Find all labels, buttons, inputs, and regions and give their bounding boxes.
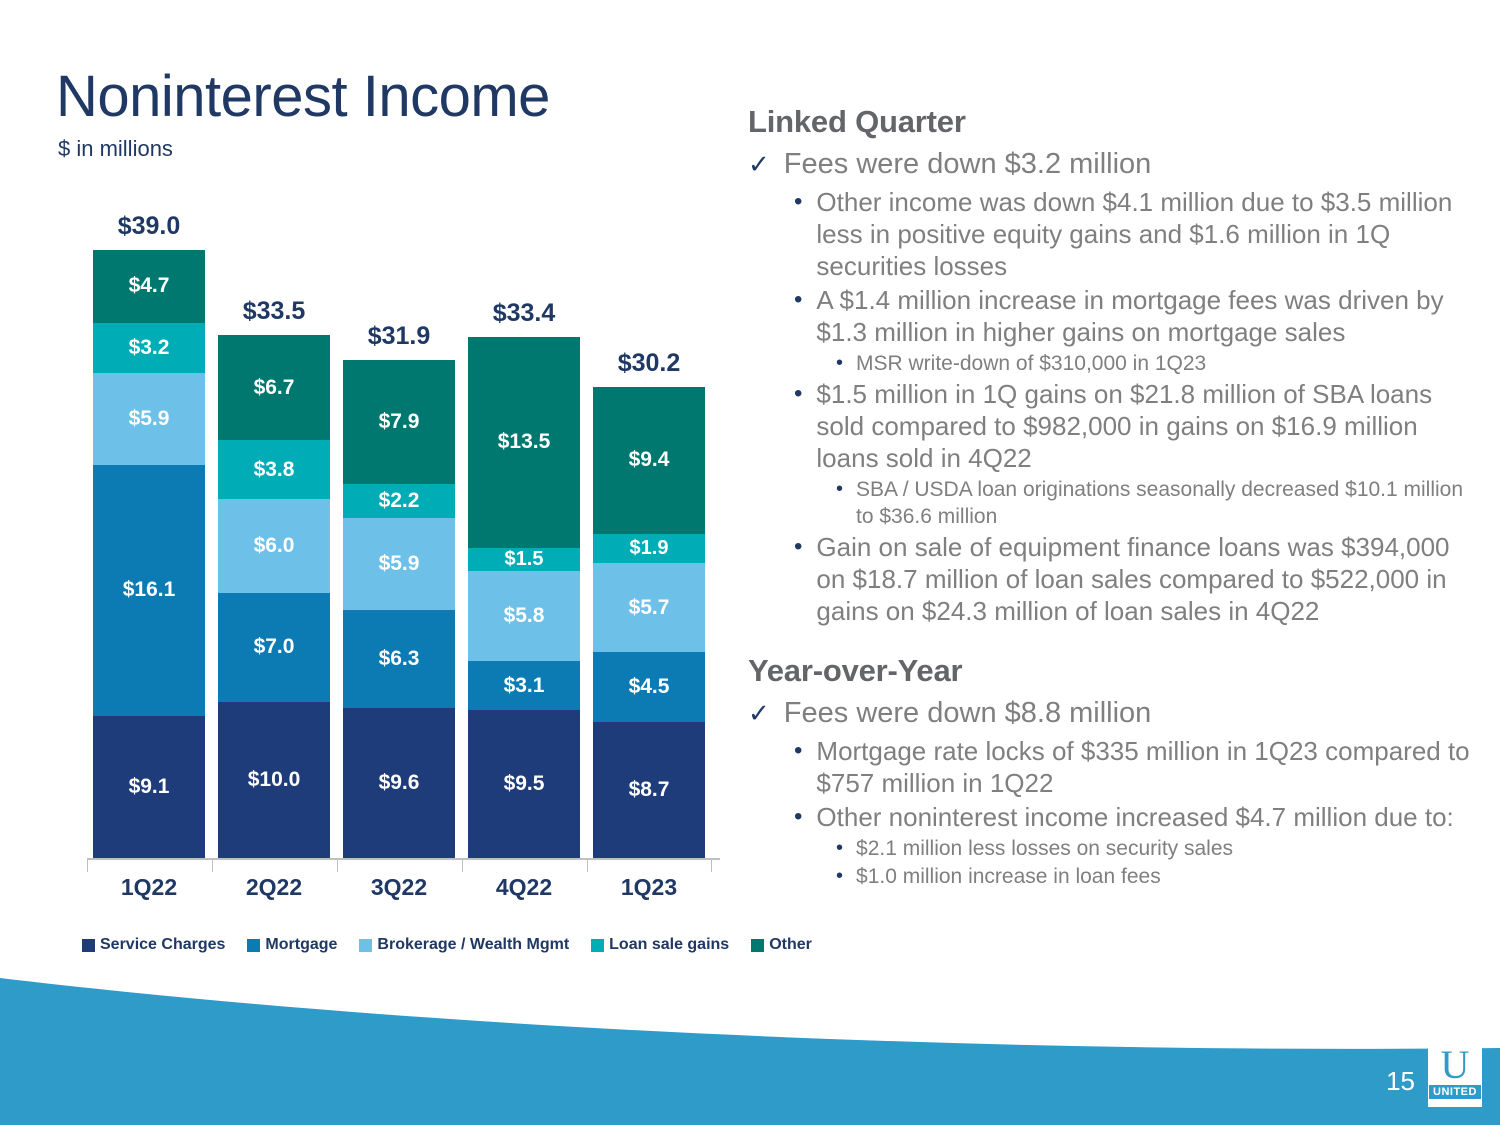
bullet-dot-icon: • [794, 735, 802, 767]
bullet-text: Fees were down $3.2 million [784, 144, 1152, 184]
axis-tick [87, 858, 88, 872]
bar-segment: $7.0 [218, 593, 330, 702]
bullet-level-2: •Gain on sale of equipment finance loans… [794, 531, 1478, 627]
bullet-text: $2.1 million less losses on security sal… [856, 835, 1233, 862]
axis-tick [212, 858, 213, 872]
logo-letter: U [1441, 1045, 1470, 1085]
bullet-text: Fees were down $8.8 million [784, 693, 1152, 733]
bar-segment: $3.2 [93, 323, 205, 373]
bar-segment: $9.6 [343, 708, 455, 858]
section-heading: Year-over-Year [748, 653, 1478, 689]
bullet-dot-icon: • [836, 863, 843, 890]
bullet-text: SBA / USDA loan originations seasonally … [856, 476, 1478, 530]
bar-total-label: $30.2 [569, 349, 729, 378]
bullet-text: $1.5 million in 1Q gains on $21.8 millio… [816, 378, 1478, 474]
bar-segment: $7.9 [343, 360, 455, 483]
bullet-level-2: •Other noninterest income increased $4.7… [794, 801, 1478, 833]
bullet-level-1: ✓Fees were down $3.2 million [748, 144, 1478, 184]
bar-segment: $5.7 [593, 563, 705, 652]
bar-segment: $16.1 [93, 465, 205, 716]
bullet-level-3: •$1.0 million increase in loan fees [836, 863, 1478, 890]
bullet-text: $1.0 million increase in loan fees [856, 863, 1161, 890]
chart-plot-area: $4.7$3.2$5.9$16.1$9.1$39.01Q22$6.7$3.8$6… [0, 0, 740, 900]
bar-1q22: $4.7$3.2$5.9$16.1$9.1 [93, 250, 205, 858]
bar-segment: $2.2 [343, 484, 455, 518]
bullet-level-2: •Mortgage rate locks of $335 million in … [794, 735, 1478, 799]
bar-segment: $6.3 [343, 610, 455, 708]
bar-segment: $9.4 [593, 387, 705, 534]
bullet-text: Other noninterest income increased $4.7 … [816, 801, 1453, 833]
bar-segment: $4.5 [593, 652, 705, 722]
bullet-level-3: •SBA / USDA loan originations seasonally… [836, 476, 1478, 530]
bullet-level-2: •Other income was down $4.1 million due … [794, 186, 1478, 282]
bullet-dot-icon: • [794, 186, 802, 218]
bullet-level-3: •$2.1 million less losses on security sa… [836, 835, 1478, 862]
bar-segment: $1.5 [468, 548, 580, 571]
noninterest-income-chart: $4.7$3.2$5.9$16.1$9.1$39.01Q22$6.7$3.8$6… [0, 0, 740, 1000]
bar-1q23: $9.4$1.9$5.7$4.5$8.7 [593, 387, 705, 858]
bar-segment: $5.8 [468, 571, 580, 661]
bullet-dot-icon: • [794, 801, 802, 833]
bar-segment: $9.5 [468, 710, 580, 858]
bullet-text: MSR write-down of $310,000 in 1Q23 [856, 350, 1206, 377]
bullet-dot-icon: • [836, 350, 843, 377]
bar-segment: $5.9 [93, 373, 205, 465]
page-number: 15 [1386, 1066, 1415, 1097]
bullet-text: Mortgage rate locks of $335 million in 1… [816, 735, 1478, 799]
bar-segment: $13.5 [468, 337, 580, 548]
bullet-dot-icon: • [836, 835, 843, 862]
bar-segment: $3.8 [218, 440, 330, 499]
united-logo: U UNITED [1428, 1043, 1482, 1107]
commentary-panel: Linked Quarter✓Fees were down $3.2 milli… [748, 104, 1478, 891]
bar-2q22: $6.7$3.8$6.0$7.0$10.0 [218, 335, 330, 858]
axis-tick [462, 858, 463, 872]
bullet-dot-icon: • [794, 284, 802, 316]
bar-segment: $1.9 [593, 534, 705, 564]
bar-4q22: $13.5$1.5$5.8$3.1$9.5 [468, 337, 580, 858]
slide: Noninterest Income $ in millions $4.7$3.… [0, 0, 1500, 1125]
bullet-dot-icon: • [794, 378, 802, 410]
chart-axis-line [88, 858, 720, 860]
bullet-level-2: •$1.5 million in 1Q gains on $21.8 milli… [794, 378, 1478, 474]
bar-total-label: $33.4 [444, 299, 604, 328]
bullet-text: A $1.4 million increase in mortgage fees… [816, 284, 1478, 348]
bar-segment: $6.0 [218, 499, 330, 593]
bar-segment: $4.7 [93, 250, 205, 323]
bullet-level-3: •MSR write-down of $310,000 in 1Q23 [836, 350, 1478, 377]
bar-3q22: $7.9$2.2$5.9$6.3$9.6 [343, 360, 455, 858]
section-heading: Linked Quarter [748, 104, 1478, 140]
logo-wordmark: UNITED [1429, 1085, 1481, 1099]
bullet-dot-icon: • [794, 531, 802, 563]
axis-tick [587, 858, 588, 872]
category-label-1q23: 1Q23 [569, 874, 729, 901]
bar-segment: $10.0 [218, 702, 330, 858]
checkmark-icon: ✓ [748, 144, 770, 184]
bar-segment: $6.7 [218, 335, 330, 440]
bullet-level-1: ✓Fees were down $8.8 million [748, 693, 1478, 733]
bar-segment: $3.1 [468, 661, 580, 709]
bar-total-label: $39.0 [69, 212, 229, 241]
footer-wave [0, 950, 1500, 1125]
bullet-dot-icon: • [836, 476, 843, 503]
axis-tick [337, 858, 338, 872]
bullet-level-2: •A $1.4 million increase in mortgage fee… [794, 284, 1478, 348]
checkmark-icon: ✓ [748, 693, 770, 733]
bar-segment: $5.9 [343, 518, 455, 610]
bullet-text: Gain on sale of equipment finance loans … [816, 531, 1478, 627]
axis-tick [711, 858, 712, 872]
bar-segment: $8.7 [593, 722, 705, 858]
bullet-text: Other income was down $4.1 million due t… [816, 186, 1478, 282]
bar-segment: $9.1 [93, 716, 205, 858]
